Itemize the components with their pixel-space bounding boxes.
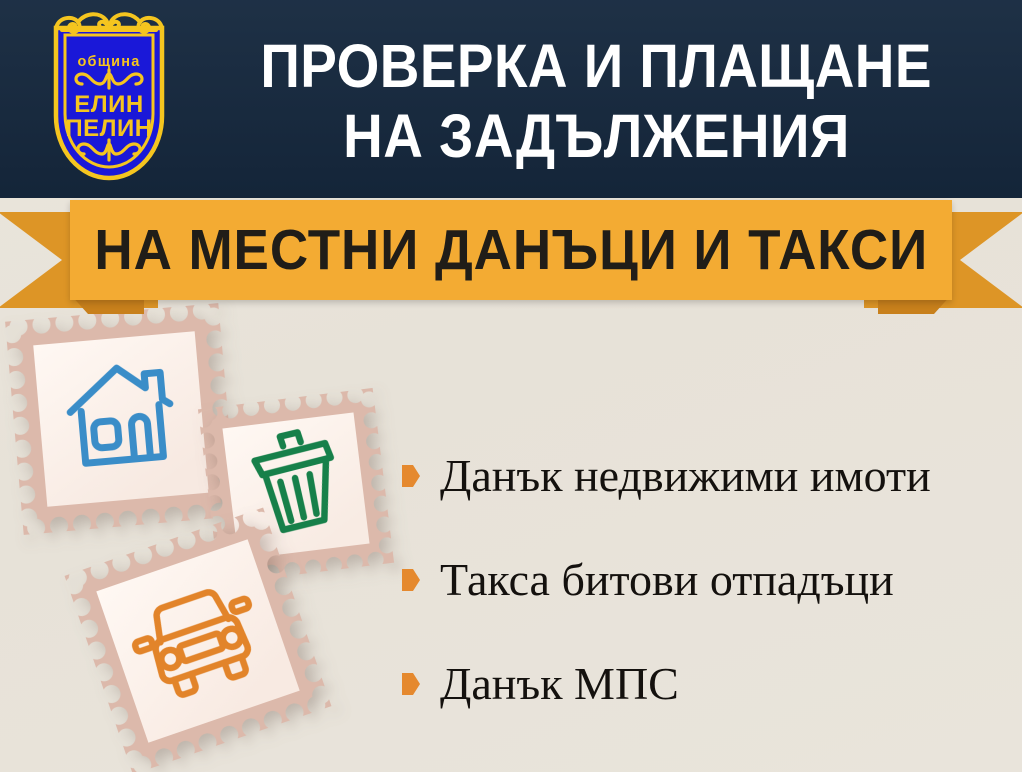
ribbon-band: НА МЕСТНИ ДАНЪЦИ И ТАКСИ [70, 200, 952, 300]
arrow-bullet-icon [402, 465, 420, 487]
title-line-1: ПРОВЕРКА И ПЛАЩАНЕ [260, 31, 932, 101]
page-title: ПРОВЕРКА И ПЛАЩАНЕ НА ЗАДЪЛЖЕНИЯ [186, 16, 1006, 186]
list-item: Такса битови отпадъци [402, 528, 1012, 632]
ribbon-banner: НА МЕСТНИ ДАНЪЦИ И ТАКСИ [0, 196, 1022, 314]
list-item: Данък недвижими имоти [402, 424, 1012, 528]
ribbon-label: НА МЕСТНИ ДАНЪЦИ И ТАКСИ [94, 220, 928, 280]
arrow-bullet-icon [402, 673, 420, 695]
crest-word-obshtina: община [78, 54, 141, 70]
crest-name-line2: ПЕЛИН [65, 115, 152, 142]
coat-of-arms-icon: община ЕЛИН ПЕЛИН [38, 8, 180, 190]
poster-root: община ЕЛИН ПЕЛИН ПРОВЕРКА И ПЛАЩАНЕ НА … [0, 0, 1022, 772]
tax-type-list: Данък недвижими имоти Такса битови отпад… [402, 424, 1012, 736]
list-item-label: Данък недвижими имоти [440, 450, 931, 502]
title-line-2: НА ЗАДЪЛЖЕНИЯ [343, 101, 850, 171]
list-item-label: Такса битови отпадъци [440, 554, 894, 606]
list-item-label: Данък МПС [440, 658, 679, 710]
crest-name-line1: ЕЛИН [74, 91, 143, 118]
list-item: Данък МПС [402, 632, 1012, 736]
arrow-bullet-icon [402, 569, 420, 591]
